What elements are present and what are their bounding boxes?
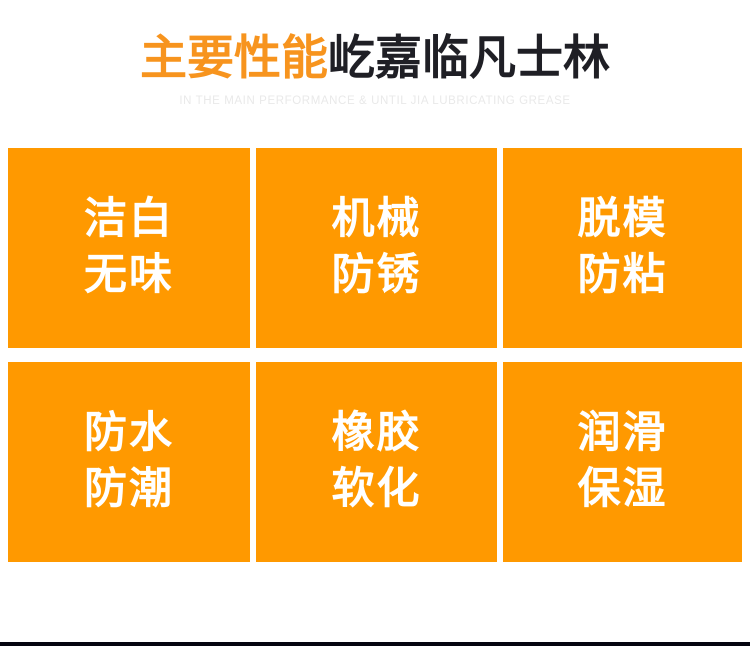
page-title: 主要性能屹嘉临凡士林 <box>0 34 750 81</box>
page-title-main: 屹嘉临凡士林 <box>328 31 610 84</box>
bottom-divider <box>0 642 750 646</box>
feature-card-fangshui-fangchao: 防水 防潮 <box>8 362 250 562</box>
feature-card-line-1: 机械 <box>332 192 422 248</box>
page-header: 主要性能屹嘉临凡士林 IN THE MAIN PERFORMANCE & UNT… <box>0 0 750 107</box>
feature-card-jixie-fangxiu: 机械 防锈 <box>256 148 497 348</box>
feature-card-line-2: 防潮 <box>84 462 174 518</box>
feature-card-jiebai-wuwei: 洁白 无味 <box>8 148 250 348</box>
feature-card-line-2: 防粘 <box>578 248 668 304</box>
feature-row-2: 防水 防潮 橡胶 软化 润滑 保湿 <box>8 362 742 562</box>
feature-card-runhua-baoshi: 润滑 保湿 <box>503 362 742 562</box>
feature-card-line-1: 脱模 <box>578 192 668 248</box>
promo-banner-page: 主要性能屹嘉临凡士林 IN THE MAIN PERFORMANCE & UNT… <box>0 0 750 648</box>
feature-card-line-2: 无味 <box>84 248 174 304</box>
feature-card-line-1: 润滑 <box>578 406 668 462</box>
page-title-accent: 主要性能 <box>140 31 328 84</box>
feature-grid: 洁白 无味 机械 防锈 脱模 防粘 防水 防潮 橡胶 软化 润滑 <box>8 148 742 562</box>
feature-card-line-1: 防水 <box>84 406 174 462</box>
feature-card-line-2: 软化 <box>332 462 422 518</box>
page-subtitle: IN THE MAIN PERFORMANCE & UNTIL JIA LUBR… <box>0 95 750 107</box>
feature-row-1: 洁白 无味 机械 防锈 脱模 防粘 <box>8 148 742 348</box>
feature-card-line-1: 洁白 <box>84 192 174 248</box>
feature-card-tuomo-fangzhan: 脱模 防粘 <box>503 148 742 348</box>
feature-card-xiangjiao-ruanhua: 橡胶 软化 <box>256 362 497 562</box>
feature-card-line-2: 防锈 <box>332 248 422 304</box>
feature-card-line-2: 保湿 <box>578 462 668 518</box>
feature-card-line-1: 橡胶 <box>332 406 422 462</box>
